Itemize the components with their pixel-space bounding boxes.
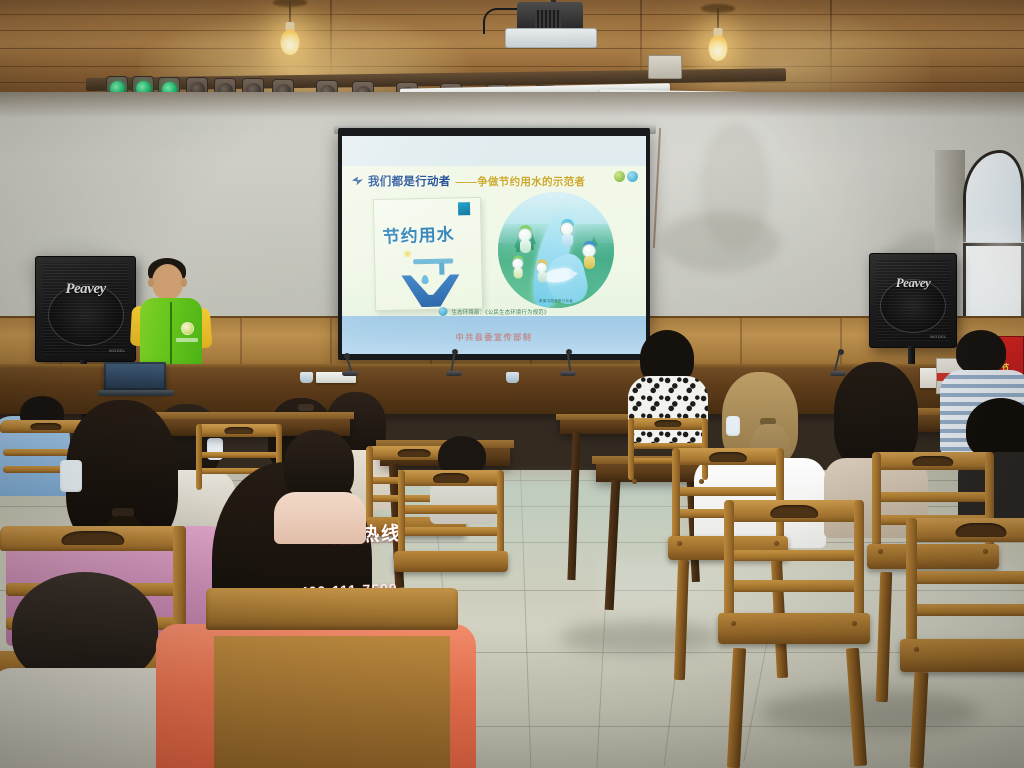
chair-back-rail — [206, 588, 458, 630]
microphone-head — [838, 349, 844, 355]
lecture-hall-photo: 我们都是行动者 ——争做节约用水的示范者 节约用水 — [0, 0, 1024, 768]
laptop-base — [98, 390, 174, 396]
footer-badge-icon — [439, 307, 448, 316]
face-mask — [726, 416, 740, 436]
microphone-base — [560, 371, 576, 376]
wooden-chair — [724, 500, 864, 618]
water-cup — [506, 372, 519, 383]
wooden-chair — [398, 470, 504, 554]
microphone-base — [446, 371, 462, 376]
hands-icon — [401, 274, 460, 307]
slide-poster-image: 节约用水 — [373, 197, 483, 311]
peavey-logo: Peavey — [896, 275, 931, 291]
audience-member — [272, 430, 368, 520]
speaker-badge: MODEL — [109, 348, 126, 353]
slide-title-secondary: ——争做节约用水的示范者 — [456, 174, 586, 189]
water-drop-icon — [421, 275, 428, 284]
ceiling-bulb-right — [698, 8, 738, 64]
leaf-logo-icon — [614, 171, 625, 182]
wall-junction-box — [648, 55, 682, 79]
slide-watermark: 中共县委宣传部制 — [456, 332, 533, 343]
water-cup — [300, 372, 313, 383]
slide-illustration: 美丽中国我是行动者 — [498, 192, 614, 308]
ceiling-bulb-left — [270, 2, 310, 58]
peavey-speaker-left: Peavey MODEL — [35, 256, 136, 362]
slide-title-primary: 我们都是行动者 — [368, 173, 451, 189]
illustration-caption: 美丽中国我是行动者 — [539, 299, 573, 304]
poster-title: 节约用水 — [382, 219, 475, 248]
slide-footer: 生态环境部：《公民生态环境行为规范》 — [439, 307, 550, 316]
slide-title: 我们都是行动者 ——争做节约用水的示范者 — [352, 172, 636, 190]
slide-logo — [614, 171, 638, 182]
microphone-base — [342, 371, 358, 376]
wooden-chair — [906, 518, 1024, 644]
volunteer-badge-icon — [181, 322, 194, 335]
microphone-head — [566, 349, 572, 355]
ceiling-projector — [505, 0, 597, 48]
chair-seat-foreground — [214, 636, 450, 768]
presenter-laptop — [104, 362, 166, 392]
slide-surface: 我们都是行动者 ——争做节约用水的示范者 节约用水 — [342, 136, 646, 354]
audience-member — [0, 572, 170, 768]
faucet-icon — [409, 250, 453, 271]
arched-window-top — [963, 150, 1024, 242]
face-mask — [60, 460, 82, 492]
microphone-head — [452, 349, 458, 355]
water-drop-logo-icon — [627, 171, 638, 182]
peavey-logo: Peavey — [65, 281, 105, 298]
slide-bullet-icon — [352, 177, 363, 186]
projection-screen: 我们都是行动者 ——争做节约用水的示范者 节约用水 — [338, 128, 650, 360]
slide-footer-text: 生态环境部：《公民生态环境行为规范》 — [452, 308, 550, 316]
microphone-head — [344, 353, 350, 359]
